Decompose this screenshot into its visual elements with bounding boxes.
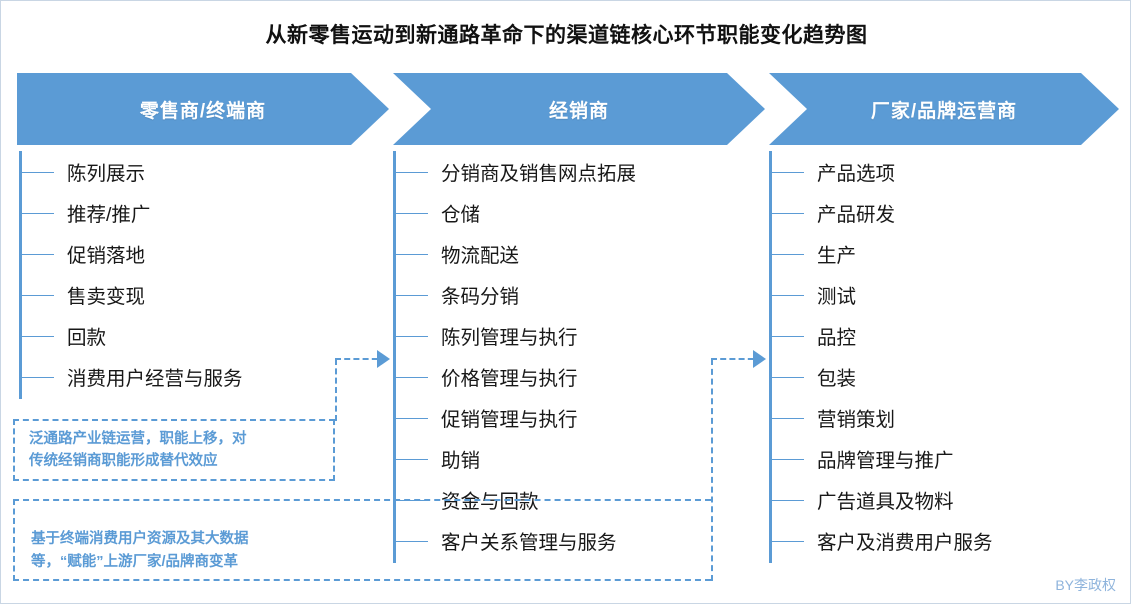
note-line: 泛通路产业链运营，职能上移，对 bbox=[29, 428, 321, 450]
chevron-label-retailer: 零售商/终端商 bbox=[140, 96, 266, 123]
tick-icon bbox=[772, 459, 804, 460]
list-item[interactable]: 促销管理与执行 bbox=[393, 397, 723, 438]
list-item[interactable]: 客户及消费用户服务 bbox=[769, 520, 1109, 561]
list-item-label: 陈列管理与执行 bbox=[441, 321, 578, 350]
list-item-label: 产品选项 bbox=[817, 157, 895, 186]
tick-icon bbox=[396, 213, 428, 214]
note-line: 等，“赋能”上游厂家/品牌商变革 bbox=[29, 551, 699, 573]
list-item[interactable]: 陈列管理与执行 bbox=[393, 315, 723, 356]
list-item[interactable]: 品控 bbox=[769, 315, 1109, 356]
list-item-label: 品控 bbox=[817, 321, 856, 350]
list-item[interactable]: 生产 bbox=[769, 233, 1109, 274]
arrow-head-icon bbox=[377, 350, 390, 368]
list-item-label: 分销商及销售网点拓展 bbox=[441, 157, 636, 186]
tick-icon bbox=[772, 541, 804, 542]
tick-icon bbox=[22, 295, 54, 296]
list-item-label: 回款 bbox=[67, 321, 106, 350]
list-item-label: 陈列展示 bbox=[67, 157, 145, 186]
tick-icon bbox=[772, 295, 804, 296]
list-item-label: 售卖变现 bbox=[67, 280, 145, 309]
connector-vertical-retail-to-manufacturer bbox=[711, 359, 713, 581]
tick-icon bbox=[772, 418, 804, 419]
note-line: 传统经销商职能形成替代效应 bbox=[29, 450, 321, 472]
tick-icon bbox=[772, 377, 804, 378]
list-item[interactable]: 条码分销 bbox=[393, 274, 723, 315]
list-item[interactable]: 测试 bbox=[769, 274, 1109, 315]
list-item[interactable]: 回款 bbox=[19, 315, 349, 356]
diagram-canvas: 从新零售运动到新通路革命下的渠道链核心环节职能变化趋势图 零售商/终端商 经销商… bbox=[0, 0, 1131, 604]
tick-icon bbox=[772, 500, 804, 501]
item-list-retailer: 陈列展示 推荐/推广 促销落地 售卖变现 回款 消费用户经营与服务 bbox=[19, 151, 349, 397]
list-item[interactable]: 营销策划 bbox=[769, 397, 1109, 438]
tick-icon bbox=[22, 172, 54, 173]
list-item-label: 生产 bbox=[817, 239, 856, 268]
list-item[interactable]: 推荐/推广 bbox=[19, 192, 349, 233]
note-bigdata-empowerment: 基于终端消费用户资源及其大数据 等，“赋能”上游厂家/品牌商变革 bbox=[13, 499, 711, 581]
tick-icon bbox=[396, 418, 428, 419]
list-item-label: 客户及消费用户服务 bbox=[817, 526, 993, 555]
tick-icon bbox=[22, 336, 54, 337]
tick-icon bbox=[772, 336, 804, 337]
tick-icon bbox=[396, 254, 428, 255]
tick-icon bbox=[396, 377, 428, 378]
list-item-label: 助销 bbox=[441, 444, 480, 473]
tick-icon bbox=[396, 459, 428, 460]
list-item[interactable]: 售卖变现 bbox=[19, 274, 349, 315]
chevron-header-retailer[interactable]: 零售商/终端商 bbox=[17, 73, 389, 145]
tick-icon bbox=[22, 213, 54, 214]
list-item-label: 营销策划 bbox=[817, 403, 895, 432]
arrow-head-icon bbox=[753, 350, 766, 368]
list-item[interactable]: 产品选项 bbox=[769, 151, 1109, 192]
list-item-label: 品牌管理与推广 bbox=[817, 444, 954, 473]
connector-vertical-retail-to-distributor bbox=[335, 359, 337, 421]
list-item[interactable]: 仓储 bbox=[393, 192, 723, 233]
tick-icon bbox=[22, 254, 54, 255]
list-item[interactable]: 分销商及销售网点拓展 bbox=[393, 151, 723, 192]
list-item[interactable]: 品牌管理与推广 bbox=[769, 438, 1109, 479]
tick-icon bbox=[396, 172, 428, 173]
watermark: BY李政权 bbox=[1055, 575, 1116, 595]
list-item-label: 广告道具及物料 bbox=[817, 485, 954, 514]
list-item-label: 消费用户经营与服务 bbox=[67, 362, 243, 391]
list-item-label: 包装 bbox=[817, 362, 856, 391]
chevron-header-manufacturer[interactable]: 厂家/品牌运营商 bbox=[769, 73, 1119, 145]
tick-icon bbox=[22, 377, 54, 378]
chevron-header-distributor[interactable]: 经销商 bbox=[393, 73, 765, 145]
list-item[interactable]: 包装 bbox=[769, 356, 1109, 397]
page-title: 从新零售运动到新通路革命下的渠道链核心环节职能变化趋势图 bbox=[1, 19, 1131, 49]
list-item[interactable]: 广告道具及物料 bbox=[769, 479, 1109, 520]
list-item[interactable]: 价格管理与执行 bbox=[393, 356, 723, 397]
list-item-label: 条码分销 bbox=[441, 280, 519, 309]
tick-icon bbox=[772, 172, 804, 173]
list-item[interactable]: 助销 bbox=[393, 438, 723, 479]
list-item-label: 物流配送 bbox=[441, 239, 519, 268]
tick-icon bbox=[772, 254, 804, 255]
list-item[interactable]: 陈列展示 bbox=[19, 151, 349, 192]
note-line: 基于终端消费用户资源及其大数据 bbox=[29, 528, 699, 550]
list-item-label: 促销落地 bbox=[67, 239, 145, 268]
list-item[interactable]: 消费用户经营与服务 bbox=[19, 356, 349, 397]
list-item[interactable]: 产品研发 bbox=[769, 192, 1109, 233]
list-item-label: 推荐/推广 bbox=[67, 198, 150, 227]
list-item[interactable]: 促销落地 bbox=[19, 233, 349, 274]
list-item-label: 测试 bbox=[817, 280, 856, 309]
chevron-label-manufacturer: 厂家/品牌运营商 bbox=[871, 96, 1017, 123]
tick-icon bbox=[396, 295, 428, 296]
list-item-label: 仓储 bbox=[441, 198, 480, 227]
list-item-label: 促销管理与执行 bbox=[441, 403, 578, 432]
note-upstream-substitution: 泛通路产业链运营，职能上移，对 传统经销商职能形成替代效应 bbox=[13, 419, 335, 481]
list-item[interactable]: 物流配送 bbox=[393, 233, 723, 274]
tick-icon bbox=[396, 336, 428, 337]
item-list-manufacturer: 产品选项 产品研发 生产 测试 品控 包装 bbox=[769, 151, 1109, 561]
chevron-label-distributor: 经销商 bbox=[549, 96, 609, 123]
tick-icon bbox=[772, 213, 804, 214]
list-item-label: 价格管理与执行 bbox=[441, 362, 578, 391]
list-item-label: 产品研发 bbox=[817, 198, 895, 227]
